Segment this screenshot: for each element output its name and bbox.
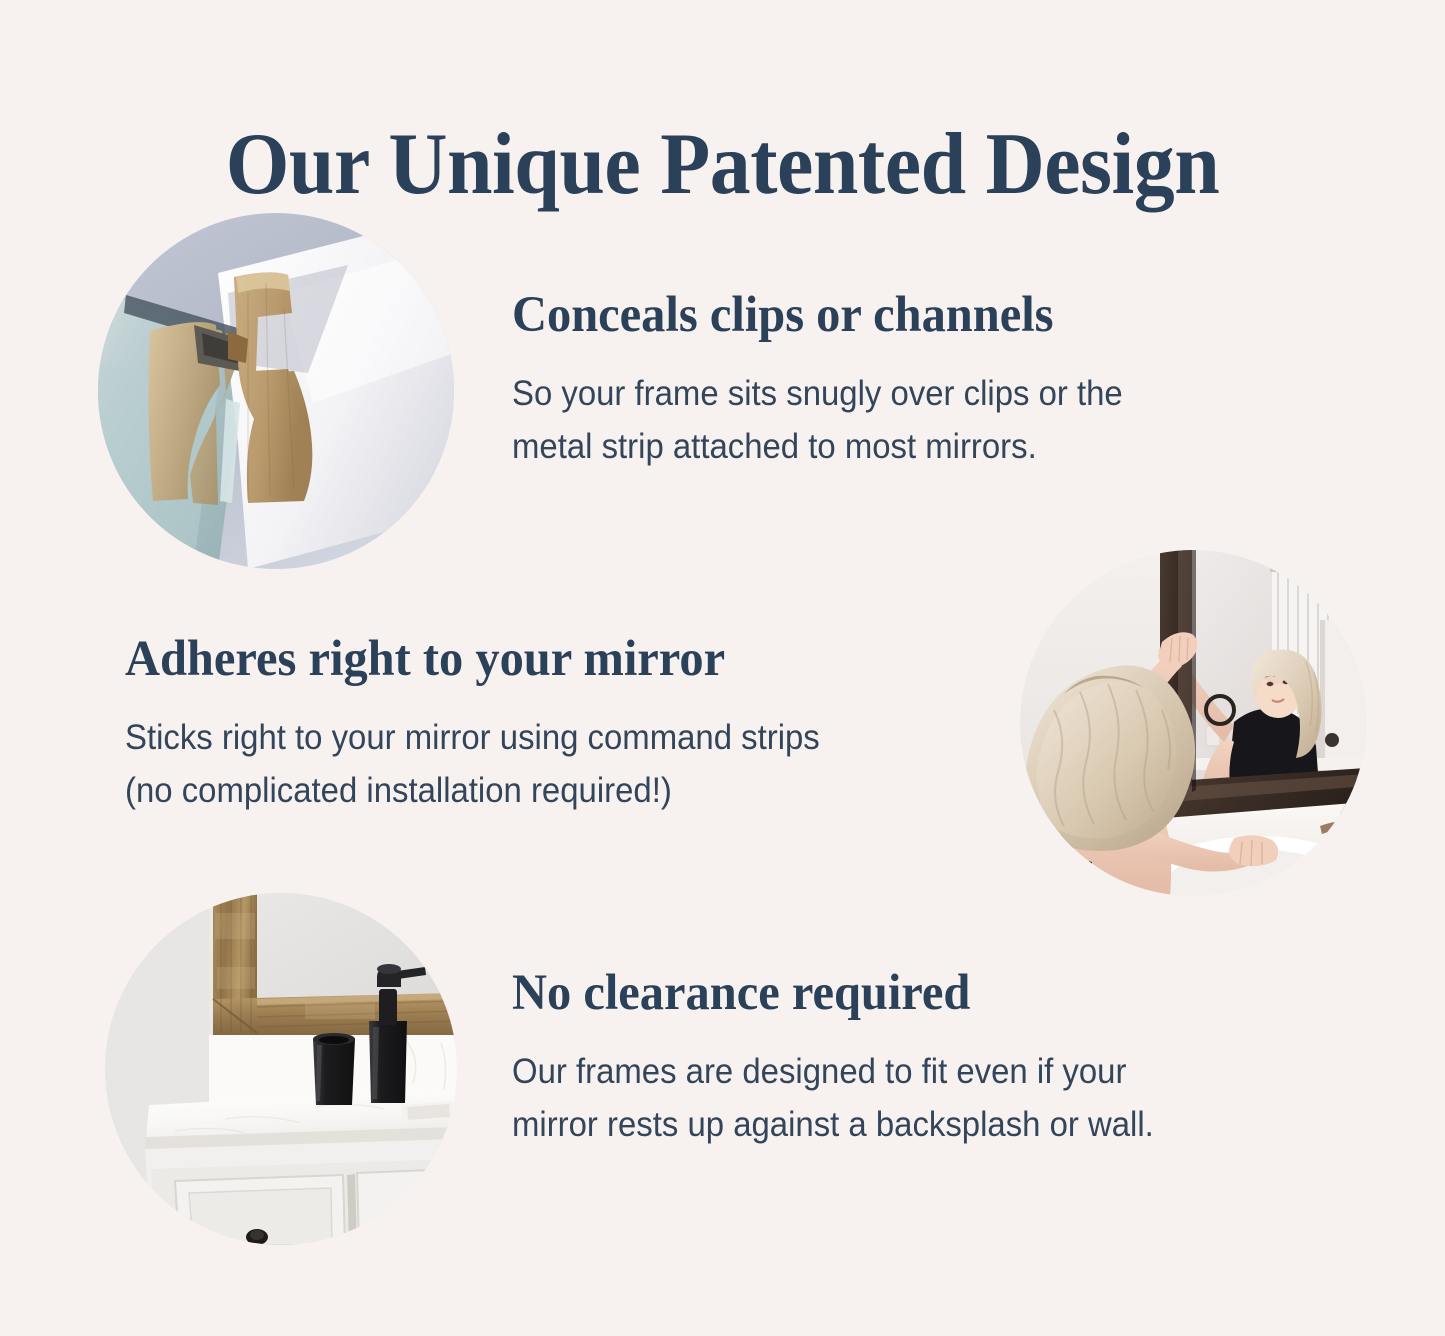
- feature-heading-adheres: Adheres right to your mirror: [125, 632, 942, 686]
- page-title: Our Unique Patented Design: [51, 121, 1395, 209]
- feature-text-conceals: Conceals clips or channels So your frame…: [512, 288, 1272, 473]
- feature-body-conceals-line2: metal strip attached to most mirrors.: [512, 421, 1226, 474]
- feature-text-clearance: No clearance required Our frames are des…: [512, 966, 1302, 1151]
- vanity-backsplash-photo: [105, 893, 457, 1245]
- feature-body-conceals-line1: So your frame sits snugly over clips or …: [512, 368, 1226, 421]
- feature-body-adheres-line2: (no complicated installation required!): [125, 765, 933, 818]
- infographic-page: Our Unique Patented Design: [0, 0, 1445, 1336]
- feature-body-adheres-line1: Sticks right to your mirror using comman…: [125, 712, 933, 765]
- feature-text-adheres: Adheres right to your mirror Sticks righ…: [125, 632, 985, 817]
- woman-installing-frame-photo: [1020, 550, 1366, 896]
- mirror-clip-closeup-photo: [98, 213, 454, 569]
- feature-body-clearance-line2: mirror rests up against a backsplash or …: [512, 1099, 1255, 1152]
- feature-heading-clearance: No clearance required: [512, 966, 1263, 1020]
- feature-body-clearance-line1: Our frames are designed to fit even if y…: [512, 1046, 1255, 1099]
- feature-heading-conceals: Conceals clips or channels: [512, 288, 1234, 342]
